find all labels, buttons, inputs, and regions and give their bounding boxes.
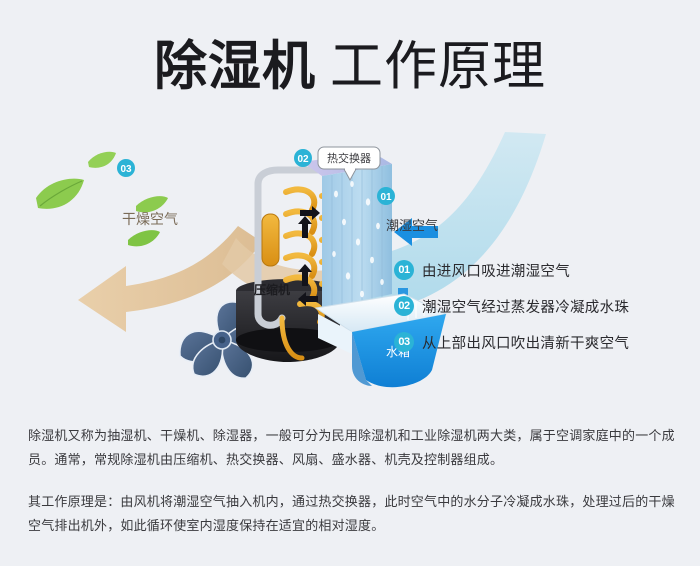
leaf-icon (136, 196, 168, 212)
humid-air-badge: 01 (380, 192, 392, 203)
page-title: 除湿机 工作原理 (0, 30, 700, 102)
legend-list: 01 由进风口吸进潮湿空气 02 潮湿空气经过蒸发器冷凝成水珠 03 从上部出风… (394, 252, 694, 360)
legend-text-03: 从上部出风口吹出清新干爽空气 (422, 332, 629, 353)
description-paragraph-2: 其工作原理是：由风机将潮湿空气抽入机内，通过热交换器，此时空气中的水分子冷凝成水… (28, 490, 676, 538)
description-paragraph-1: 除湿机又称为抽湿机、干燥机、除湿器，一般可分为民用除湿机和工业除湿机两大类，属于… (28, 424, 676, 472)
heat-exchanger-label: 热交换器 (327, 151, 371, 165)
dry-air-label: 干燥空气 (122, 211, 178, 227)
humid-air-label: 潮湿空气 (386, 218, 438, 233)
legend-badge-02: 02 (394, 296, 414, 316)
leaf-icon (88, 152, 116, 168)
page-title-strong: 除湿机 (154, 40, 316, 93)
legend-item-03: 03 从上部出风口吹出清新干爽空气 (394, 324, 694, 360)
description-block: 除湿机又称为抽湿机、干燥机、除湿器，一般可分为民用除湿机和工业除湿机两大类，属于… (28, 424, 676, 538)
page-title-light: 工作原理 (330, 40, 546, 93)
leaf-icon (36, 179, 84, 209)
leaf-icon (128, 230, 160, 246)
dry-air-badge: 03 (120, 164, 132, 175)
legend-badge-01: 01 (394, 260, 414, 280)
legend-item-02: 02 潮湿空气经过蒸发器冷凝成水珠 (394, 288, 694, 324)
compressor-label: 压缩机 (254, 282, 290, 297)
legend-badge-03: 03 (394, 332, 414, 352)
heat-exchanger-badge: 02 (297, 154, 309, 165)
legend-text-02: 潮湿空气经过蒸发器冷凝成水珠 (422, 296, 629, 317)
legend-item-01: 01 由进风口吸进潮湿空气 (394, 252, 694, 288)
legend-text-01: 由进风口吸进潮湿空气 (422, 260, 570, 281)
diagram-label-dry-air: 03 干燥空气 (117, 159, 178, 227)
